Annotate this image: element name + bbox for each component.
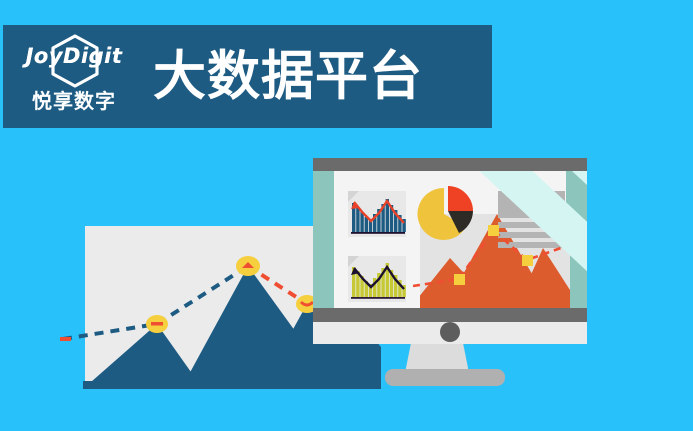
blue-bar-chart-svg: [348, 191, 406, 237]
brand-logo: JoyDigit 悦享数字: [13, 31, 135, 123]
monitor-screen: [313, 171, 587, 308]
monitor-top-bezel: [313, 158, 587, 171]
mountain-baseline: [83, 381, 339, 389]
olive-bar-chart-svg: [348, 256, 406, 302]
poster-canvas: JoyDigit 悦享数字 大数据平台: [0, 0, 693, 431]
teal-accent-left: [313, 171, 334, 308]
data-marker: [454, 274, 465, 285]
trend-line-dashed: [413, 230, 575, 286]
monitor-illustration: [313, 158, 587, 344]
olive-bar-chart-card: [348, 256, 406, 302]
blue-mountain-chart-svg: [85, 226, 337, 389]
header-banner: JoyDigit 悦享数字 大数据平台: [3, 25, 492, 128]
blue-mountain-chart: [85, 226, 337, 389]
monitor-bottom-bezel: [313, 308, 587, 322]
data-marker-glyph: [151, 322, 163, 326]
data-marker: [488, 225, 499, 236]
page-title: 大数据平台: [153, 50, 423, 103]
monitor-base: [385, 369, 505, 386]
blue-bar-chart-card: [348, 191, 406, 237]
camera-dot-icon: [440, 322, 460, 342]
logo-subtitle: 悦享数字: [13, 91, 135, 111]
axis-line: [351, 297, 405, 299]
data-marker: [522, 255, 533, 266]
axis-line: [351, 232, 405, 234]
logo-wordmark: JoyDigit: [13, 46, 135, 67]
